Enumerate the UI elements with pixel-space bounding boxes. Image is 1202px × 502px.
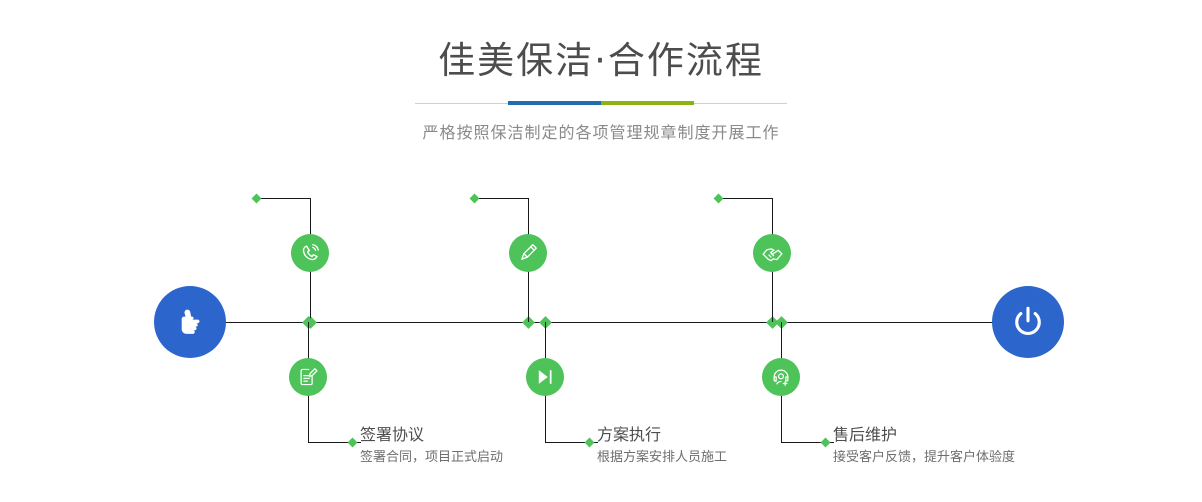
connector-horizontal [719,198,773,199]
title-divider [415,101,787,105]
divider-segment-green [601,101,694,105]
customer-service-icon [770,366,792,388]
step-description: 根据方案安排人员施工 [597,448,727,468]
step-title: 签署协议 [360,425,503,445]
step-icon-badge[interactable] [291,234,329,272]
label-marker [252,194,262,204]
divider-segment-blue [508,101,601,105]
step-icon-badge[interactable] [753,234,791,272]
infographic-page: 佳美保洁·合作流程 严格按照保洁制定的各项管理规章制度开展工作 [0,0,1202,502]
label-marker [714,194,724,204]
play-execute-icon [534,366,556,388]
step-label: 方案执行 根据方案安排人员施工 [597,425,727,468]
power-icon [1008,302,1048,342]
step-description: 签署合同，项目正式启动 [360,448,503,468]
step-icon-badge[interactable] [289,358,327,396]
step-icon-badge[interactable] [762,358,800,396]
page-title: 佳美保洁·合作流程 [0,42,1202,79]
connector-horizontal [475,198,529,199]
flow-end-node[interactable] [992,286,1064,358]
page-subtitle: 严格按照保洁制定的各项管理规章制度开展工作 [0,119,1202,143]
step-title: 售后维护 [833,425,1015,445]
label-marker [348,438,358,448]
process-flow-diagram: 电话咨询 阐明基本情况和需求 方案定制 为客户提供 [0,150,1202,502]
step-icon-badge[interactable] [526,358,564,396]
connector-horizontal [257,198,311,199]
step-title: 方案执行 [597,425,727,445]
step-label: 签署协议 签署合同，项目正式启动 [360,425,503,468]
pointing-hand-icon [171,303,209,341]
flow-start-node[interactable] [154,286,226,358]
handshake-icon [761,242,784,265]
pencil-edit-icon [517,242,539,264]
header: 佳美保洁·合作流程 严格按照保洁制定的各项管理规章制度开展工作 [0,0,1202,143]
label-marker [585,438,595,448]
document-sign-icon [297,366,319,388]
step-icon-badge[interactable] [509,234,547,272]
phone-call-icon [299,242,321,264]
label-marker [470,194,480,204]
step-description: 接受客户反馈，提升客户体验度 [833,448,1015,468]
label-marker [821,438,831,448]
step-label: 售后维护 接受客户反馈，提升客户体验度 [833,425,1015,468]
